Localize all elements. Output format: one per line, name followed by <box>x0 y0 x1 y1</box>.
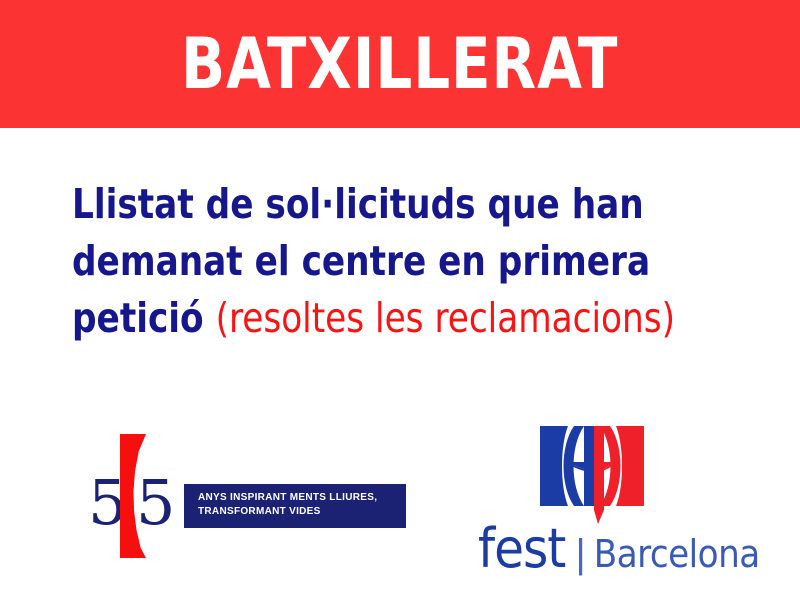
fest-wordmark: fest | Barcelona <box>478 522 728 578</box>
poster-page: BATXILLERAT Llistat de sol·licituds que … <box>0 0 800 596</box>
heading-line-3: petició (resoltes les reclamacions) <box>72 290 704 347</box>
header-banner: BATXILLERAT <box>0 0 800 128</box>
anniversary-logo: 5 5 ANYS INSPIRANT MENTS LLIURES, TRANSF… <box>88 430 408 560</box>
logo-row: 5 5 ANYS INSPIRANT MENTS LLIURES, TRANSF… <box>0 410 800 596</box>
heading-block: Llistat de sol·licituds que han demanat … <box>72 176 752 347</box>
fest-barcelona-logo: fest | Barcelona <box>478 424 728 584</box>
anniversary-tagline-line-2: TRANSFORMANT VIDES <box>198 505 406 519</box>
heading-line-2: demanat el centre en primera <box>72 233 704 290</box>
heading-line-3-main: petició <box>72 294 216 342</box>
banner-title: BATXILLERAT <box>181 29 618 99</box>
anniversary-tagline-line-1: ANYS INSPIRANT MENTS LLIURES, <box>198 491 406 505</box>
anniversary-digit-right: 5 <box>136 472 175 534</box>
fest-name: fest <box>478 522 565 576</box>
heading-line-1: Llistat de sol·licituds que han <box>72 176 704 233</box>
fest-city: Barcelona <box>594 535 760 573</box>
fest-emblem-icon <box>538 424 646 528</box>
anniversary-tagline-box: ANYS INSPIRANT MENTS LLIURES, TRANSFORMA… <box>184 484 406 528</box>
fest-separator: | <box>575 534 585 574</box>
heading-line-3-accent: (resoltes les reclamacions) <box>216 294 675 342</box>
